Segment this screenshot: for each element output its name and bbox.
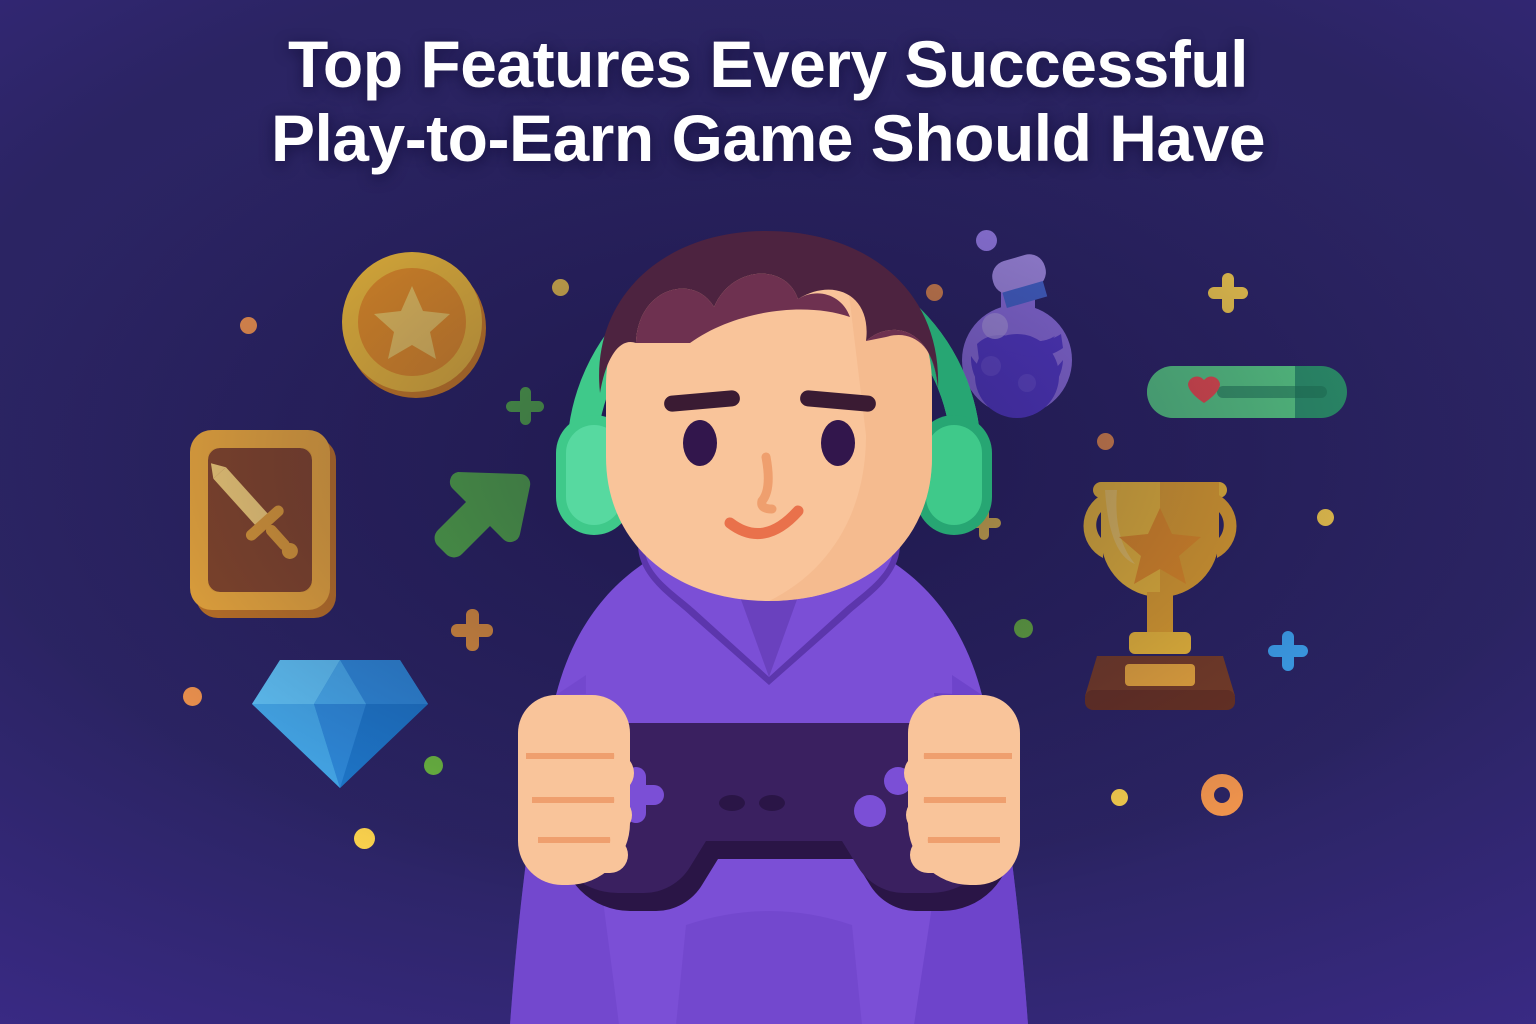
card-icon [186, 424, 356, 624]
title-line-2: Play-to-Earn Game Should Have [110, 102, 1426, 176]
dot-orange-1 [240, 317, 257, 334]
poster-canvas: Top Features Every Successful Play-to-Ea… [0, 0, 1536, 1024]
health-bar-icon [1147, 366, 1347, 418]
cross-yellow-1 [1208, 273, 1248, 313]
diamond-icon [252, 646, 428, 790]
dot-orange-4 [183, 687, 202, 706]
dot-yellow-4 [354, 828, 375, 849]
dot-yellow-2 [1317, 509, 1334, 526]
cross-blue-1 [1268, 631, 1308, 671]
title-line-1: Top Features Every Successful [110, 28, 1426, 102]
page-title: Top Features Every Successful Play-to-Ea… [0, 28, 1536, 176]
gamer-illustration [414, 225, 1124, 1024]
ring-orange-1 [1201, 774, 1243, 816]
